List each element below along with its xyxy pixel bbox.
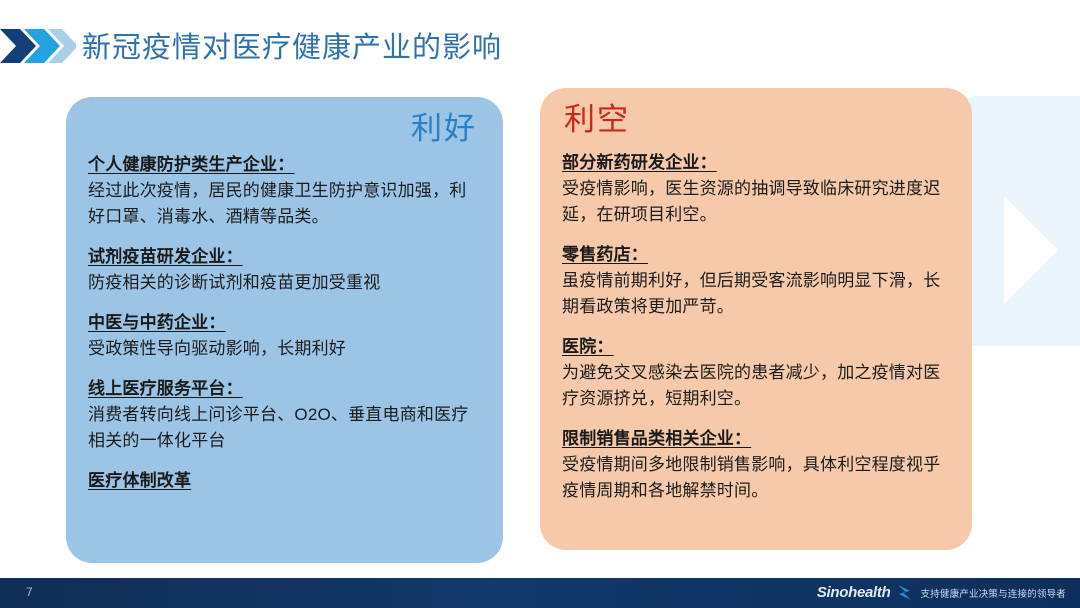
content-block: 医疗体制改革 — [88, 468, 483, 493]
block-title: 限制销售品类相关企业： — [562, 426, 952, 451]
positive-panel-body: 个人健康防护类生产企业： 经过此次疫情，居民的健康卫生防护意识加强，利好口罩、消… — [88, 152, 483, 493]
positive-impact-panel: 利好 个人健康防护类生产企业： 经过此次疫情，居民的健康卫生防护意识加强，利好口… — [66, 97, 503, 563]
block-title: 医院： — [562, 334, 952, 359]
page-title: 新冠疫情对医疗健康产业的影响 — [82, 28, 502, 68]
block-text: 防疫相关的诊断试剂和疫苗更加受重视 — [88, 270, 483, 296]
block-title: 试剂疫苗研发企业： — [88, 244, 483, 269]
content-block: 部分新药研发企业： 受疫情影响，医生资源的抽调导致临床研究进度迟延，在研项目利空… — [562, 150, 952, 228]
block-title: 中医与中药企业： — [88, 310, 483, 335]
background-watermark-notch — [1004, 196, 1058, 304]
block-title: 个人健康防护类生产企业： — [88, 152, 483, 177]
triple-chevron-icon — [0, 27, 76, 65]
block-text: 受政策性导向驱动影响，长期利好 — [88, 336, 483, 362]
block-text: 受疫情影响，医生资源的抽调导致临床研究进度迟延，在研项目利空。 — [562, 176, 952, 228]
block-title: 医疗体制改革 — [88, 468, 483, 493]
content-block: 限制销售品类相关企业： 受疫情期间多地限制销售影响，具体利空程度视乎疫情周期和各… — [562, 426, 952, 504]
content-block: 中医与中药企业： 受政策性导向驱动影响，长期利好 — [88, 310, 483, 362]
negative-panel-body: 部分新药研发企业： 受疫情影响，医生资源的抽调导致临床研究进度迟延，在研项目利空… — [562, 150, 952, 504]
block-text: 经过此次疫情，居民的健康卫生防护意识加强，利好口罩、消毒水、酒精等品类。 — [88, 178, 483, 230]
brand-name: Sinohealth — [817, 584, 891, 601]
block-text: 消费者转向线上问诊平台、O2O、垂直电商和医疗相关的一体化平台 — [88, 402, 483, 454]
negative-panel-heading: 利空 — [564, 102, 630, 138]
block-title: 部分新药研发企业： — [562, 150, 952, 175]
swoosh-arrow-icon — [897, 584, 913, 601]
positive-panel-heading: 利好 — [411, 111, 477, 147]
brand-tagline: 支持健康产业决策与连接的领导者 — [920, 586, 1066, 600]
content-block: 试剂疫苗研发企业： 防疫相关的诊断试剂和疫苗更加受重视 — [88, 244, 483, 296]
block-text: 受疫情期间多地限制销售影响，具体利空程度视乎疫情周期和各地解禁时间。 — [562, 452, 952, 504]
content-block: 个人健康防护类生产企业： 经过此次疫情，居民的健康卫生防护意识加强，利好口罩、消… — [88, 152, 483, 230]
block-title: 线上医疗服务平台： — [88, 376, 483, 401]
slide-footer: 7 Sinohealth 支持健康产业决策与连接的领导者 — [0, 578, 1080, 608]
content-block: 医院： 为避免交叉感染去医院的患者减少，加之疫情对医疗资源挤兑，短期利空。 — [562, 334, 952, 412]
block-text: 为避免交叉感染去医院的患者减少，加之疫情对医疗资源挤兑，短期利空。 — [562, 360, 952, 412]
block-text: 虽疫情前期利好，但后期受客流影响明显下滑，长期看政策将更加严苛。 — [562, 268, 952, 320]
content-block: 线上医疗服务平台： 消费者转向线上问诊平台、O2O、垂直电商和医疗相关的一体化平… — [88, 376, 483, 454]
page-number: 7 — [26, 585, 33, 599]
block-title: 零售药店： — [562, 242, 952, 267]
negative-impact-panel: 利空 部分新药研发企业： 受疫情影响，医生资源的抽调导致临床研究进度迟延，在研项… — [540, 88, 972, 550]
content-block: 零售药店： 虽疫情前期利好，但后期受客流影响明显下滑，长期看政策将更加严苛。 — [562, 242, 952, 320]
slide-header: 新冠疫情对医疗健康产业的影响 — [0, 0, 1080, 78]
brand-lockup: Sinohealth 支持健康产业决策与连接的领导者 — [817, 584, 1066, 601]
